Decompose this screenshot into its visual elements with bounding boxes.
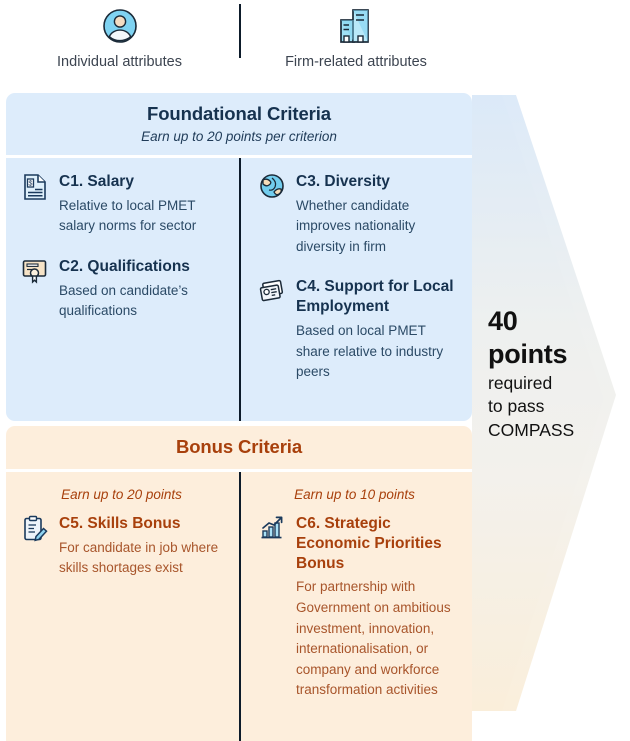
- criterion-c5-title: C5. Skills Bonus: [59, 514, 223, 534]
- arrow-line-3: COMPASS: [488, 420, 608, 441]
- header-firm-attributes: Firm-related attributes: [240, 0, 472, 88]
- foundational-right-column: C3. Diversity Whether candidate improves…: [239, 158, 472, 421]
- salary-document-icon: $: [20, 173, 50, 203]
- foundational-title: Foundational Criteria: [6, 103, 472, 125]
- criterion-c1-title: C1. Salary: [59, 172, 223, 192]
- foundational-body: $ C1. Salary Relative to local PMET sala…: [6, 158, 472, 421]
- criterion-c1-desc: Relative to local PMET salary norms for …: [59, 196, 223, 237]
- foundational-left-column: $ C1. Salary Relative to local PMET sala…: [6, 158, 239, 421]
- bonus-criteria-section: Bonus Criteria Earn up to 20 points: [6, 426, 472, 741]
- foundational-header: Foundational Criteria Earn up to 20 poin…: [6, 93, 472, 155]
- growth-chart-icon: [257, 515, 287, 545]
- clipboard-pencil-icon: [20, 515, 50, 545]
- pass-threshold-text: 40 points required to pass COMPASS: [488, 305, 608, 441]
- criterion-c4-desc: Based on local PMET share relative to in…: [296, 321, 456, 383]
- criterion-c1[interactable]: $ C1. Salary Relative to local PMET sala…: [20, 172, 223, 237]
- header-column-divider: [239, 4, 241, 58]
- criterion-c4[interactable]: C4. Support for Local Employment Based o…: [257, 277, 456, 382]
- person-avatar-icon: [101, 0, 139, 52]
- criterion-c3[interactable]: C3. Diversity Whether candidate improves…: [257, 172, 456, 257]
- criterion-c2[interactable]: C2. Qualifications Based on candidate’s …: [20, 257, 223, 322]
- arrow-line-1: required: [488, 373, 608, 394]
- bonus-title: Bonus Criteria: [6, 436, 472, 458]
- criterion-c6[interactable]: C6. Strategic Economic Priorities Bonus …: [257, 514, 456, 701]
- bonus-header: Bonus Criteria: [6, 426, 472, 469]
- office-buildings-icon: [337, 0, 375, 52]
- foundational-subtitle: Earn up to 20 points per criterion: [6, 129, 472, 144]
- certificate-icon: [20, 258, 50, 288]
- criterion-c3-desc: Whether candidate improves nationality d…: [296, 196, 456, 258]
- header-individual-attributes: Individual attributes: [0, 0, 239, 88]
- criterion-c3-title: C3. Diversity: [296, 172, 456, 192]
- points-word: points: [488, 338, 608, 371]
- criterion-c2-title: C2. Qualifications: [59, 257, 223, 277]
- arrow-line-2: to pass: [488, 396, 608, 417]
- foundational-column-divider: [239, 158, 241, 421]
- bonus-body: Earn up to 20 points C5. Skil: [6, 472, 472, 741]
- criterion-c5[interactable]: C5. Skills Bonus For candidate in job wh…: [20, 514, 223, 579]
- svg-text:$: $: [29, 181, 33, 188]
- criterion-c6-title: C6. Strategic Economic Priorities Bonus: [296, 514, 456, 573]
- criterion-c5-desc: For candidate in job where skills shorta…: [59, 538, 223, 579]
- header-individual-label: Individual attributes: [57, 54, 182, 70]
- header-firm-label: Firm-related attributes: [285, 54, 427, 70]
- criterion-c2-desc: Based on candidate’s qualifications: [59, 281, 223, 322]
- bonus-right-column: Earn up to 10 points C6. Stra: [239, 472, 472, 741]
- criterion-c6-desc: For partnership with Government on ambit…: [296, 577, 456, 700]
- foundational-criteria-section: Foundational Criteria Earn up to 20 poin…: [6, 93, 472, 421]
- bonus-column-divider: [239, 472, 241, 741]
- bonus-left-subtitle: Earn up to 20 points: [20, 487, 223, 502]
- column-headers: Individual attributes Firm-related attri…: [0, 0, 472, 88]
- compass-criteria-infographic: 40 points required to pass COMPASS Indiv…: [0, 0, 630, 741]
- bonus-left-column: Earn up to 20 points C5. Skil: [6, 472, 239, 741]
- criterion-c4-title: C4. Support for Local Employment: [296, 277, 456, 317]
- globe-icon: [257, 173, 287, 203]
- points-value: 40: [488, 305, 608, 338]
- bonus-right-subtitle: Earn up to 10 points: [253, 487, 456, 502]
- id-cards-icon: [257, 278, 287, 308]
